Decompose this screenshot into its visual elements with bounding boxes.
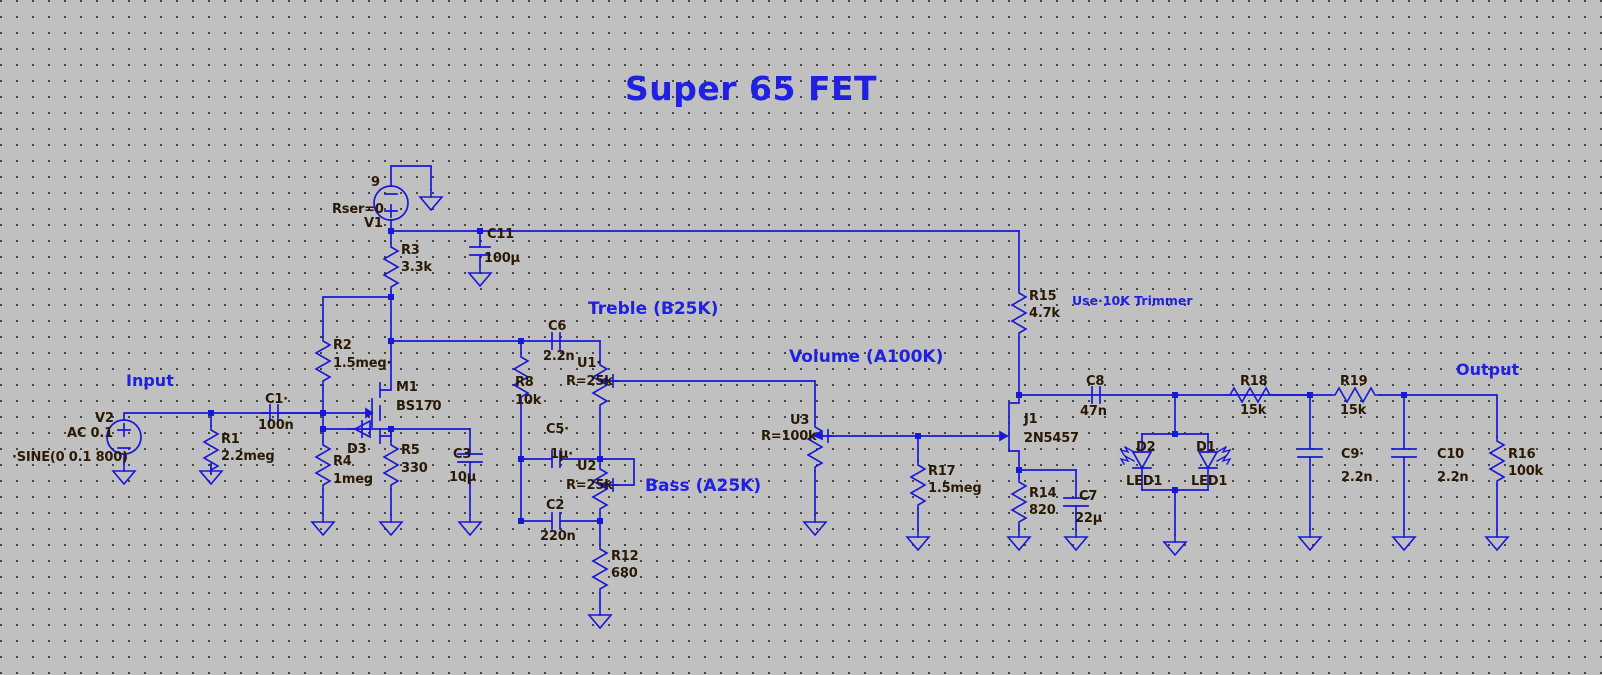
section-label-volume: Volume (A100K) <box>789 349 943 366</box>
comp-ref-r8: R8 <box>515 376 534 389</box>
section-label-treble: Treble (B25K) <box>588 301 718 318</box>
comp-ref-r16: R16 <box>1508 448 1536 461</box>
comp-ref-u2: U2 <box>577 460 596 473</box>
comp-value-c7: 22µ <box>1075 512 1102 525</box>
comp-ref-d1: D1 <box>1196 441 1215 454</box>
comp-value-m1: BS170 <box>396 400 441 413</box>
comp-value-v1: 9 <box>371 176 380 189</box>
comp-value-r5: 330 <box>401 462 428 475</box>
comp-ref-r18: R18 <box>1240 375 1268 388</box>
comp-ref-r19: R19 <box>1340 375 1368 388</box>
comp-value-c2: 220n <box>540 530 576 543</box>
comp-value-r19: 15k <box>1340 404 1366 417</box>
comp-value-u3: R=100k <box>761 430 817 443</box>
comp-ref-d2: D2 <box>1136 441 1155 454</box>
comp-ref-r15: R15 <box>1029 290 1057 303</box>
comp-ref-r12: R12 <box>611 550 639 563</box>
comp-ref-r3: R3 <box>401 244 420 257</box>
comp-ref-c2: C2 <box>546 499 564 512</box>
comp-value-c6: 2.2n <box>543 350 574 363</box>
comp-value-r15: 4.7k <box>1029 307 1060 320</box>
trimmer-note: Use·10K Trimmer <box>1072 295 1193 308</box>
comp-value-r17: 1.5meg <box>928 482 982 495</box>
comp-value-v2: AC 0.1 <box>67 427 113 440</box>
comp-value-c5: 1µ· <box>550 448 573 461</box>
comp-value-c1: 100n <box>258 419 294 432</box>
comp-value-r2: 1.5meg· <box>333 357 391 370</box>
comp-ref-c3: C3 <box>453 448 471 461</box>
comp-ref-m1: M1 <box>396 381 418 394</box>
comp-ref-c1: C1· <box>265 393 288 406</box>
comp-ref-u3: U3 <box>790 414 809 427</box>
comp-ref-v1: V1 <box>364 217 383 230</box>
comp-value-r18: 15k <box>1240 404 1266 417</box>
comp-ref-r14: R14 <box>1029 487 1057 500</box>
comp-ref-u1: U1· <box>577 357 601 370</box>
comp-ref-r5: R5 <box>401 444 420 457</box>
comp-ref-c11: C11 <box>487 228 514 241</box>
comp-value-c3: 10µ <box>449 471 476 484</box>
comp-value-r1: 2.2meg <box>221 450 275 463</box>
comp-ref-r17: R17 <box>928 465 956 478</box>
comp-ref-r2: R2 <box>333 339 352 352</box>
comp-value-r16: 100k <box>1508 465 1543 478</box>
comp-ref-c6: C6 <box>548 320 566 333</box>
comp-ref-c7: C7 <box>1079 490 1097 503</box>
comp-rser-v1: Rser=0 <box>332 203 384 216</box>
comp-value-c10: 2.2n <box>1437 471 1468 484</box>
comp-spice-v2: ·SINE(0 0.1 800) <box>12 451 128 464</box>
comp-ref-r1: R1 <box>221 433 240 446</box>
net-label-input: Input <box>126 373 174 389</box>
net-label-output: Output <box>1456 362 1519 378</box>
comp-ref-c5: C5· <box>546 423 569 436</box>
comp-value-u2: R=25k <box>566 479 613 492</box>
comp-value-d1: LED1 <box>1191 475 1227 488</box>
comp-ref-d3: D3 <box>347 443 366 456</box>
comp-ref-c8: C8 <box>1086 375 1104 388</box>
section-label-bass: Bass (A25K) <box>645 478 761 495</box>
page-title: Super 65 FET <box>625 72 877 105</box>
comp-value-c8: 47n <box>1080 405 1107 418</box>
schematic-canvas[interactable]: Super 65 FET Treble (B25K) Bass (A25K) V… <box>0 0 1602 675</box>
comp-value-r3: 3.3k <box>401 261 432 274</box>
comp-value-r14: 820 <box>1029 504 1056 517</box>
comp-value-c11: 100µ <box>484 252 520 265</box>
comp-ref-j1: J1 <box>1024 413 1037 426</box>
comp-value-r4: 1meg <box>333 473 373 486</box>
comp-value-d2: LED1 <box>1126 475 1162 488</box>
comp-ref-c9: C9· <box>1341 448 1364 461</box>
comp-value-j1: 2N5457 <box>1024 432 1079 445</box>
comp-value-u1: R=25k <box>566 375 613 388</box>
comp-ref-v2: V2 <box>95 412 114 425</box>
comp-value-r12: 680 <box>611 567 638 580</box>
comp-ref-c10: C10 <box>1437 448 1464 461</box>
comp-value-r8: 10k <box>515 394 541 407</box>
comp-value-c9: 2.2n <box>1341 471 1372 484</box>
